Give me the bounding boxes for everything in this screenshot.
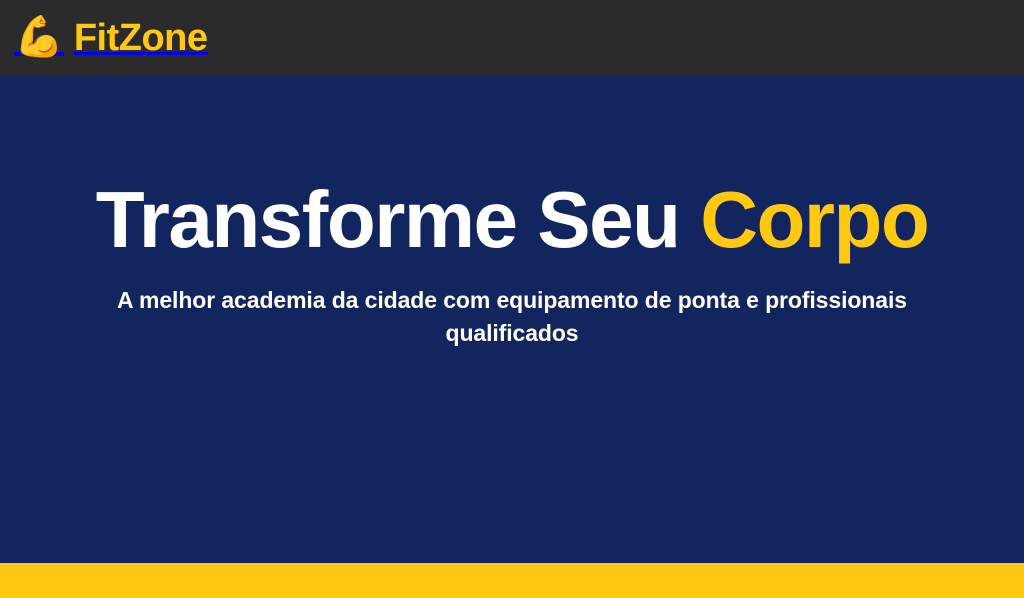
bottom-accent-band [0, 563, 1024, 598]
hero-title-primary: Transforme Seu [96, 175, 680, 264]
site-header: 💪 FitZone [0, 0, 1024, 75]
hero-title: Transforme Seu Corpo [0, 180, 1024, 260]
hero-subtitle: A melhor academia da cidade com equipame… [117, 260, 907, 349]
hero-title-accent: Corpo [700, 175, 928, 264]
flexed-biceps-icon: 💪 [14, 17, 64, 57]
page-root: 💪 FitZone Transforme Seu Corpo A melhor … [0, 0, 1024, 598]
brand-logo-link[interactable]: 💪 FitZone [14, 18, 208, 58]
brand-name: FitZone [74, 19, 208, 57]
hero-section: Transforme Seu Corpo A melhor academia d… [0, 75, 1024, 563]
